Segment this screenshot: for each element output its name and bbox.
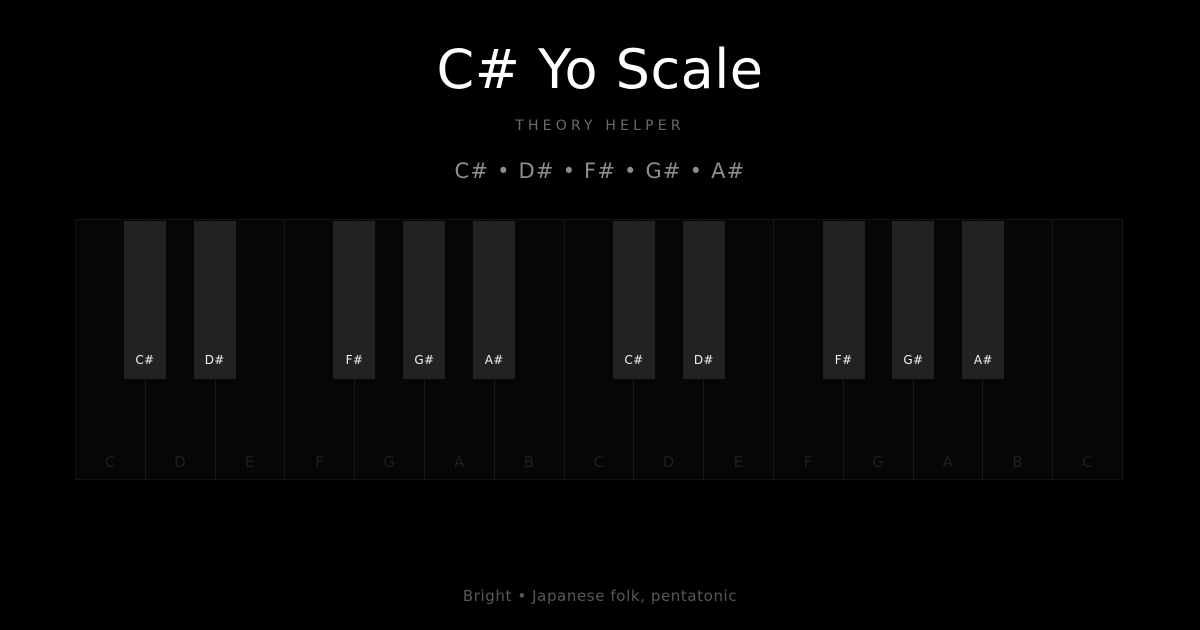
page-title: C# Yo Scale bbox=[0, 38, 1200, 102]
white-key-label: G bbox=[355, 453, 424, 471]
black-key-label: F# bbox=[823, 353, 865, 367]
white-key-label: A bbox=[914, 453, 983, 471]
white-key-label: E bbox=[216, 453, 285, 471]
white-key-label: B bbox=[495, 453, 564, 471]
black-key[interactable]: D# bbox=[683, 221, 725, 379]
black-key[interactable]: A# bbox=[473, 221, 515, 379]
black-key[interactable]: C# bbox=[613, 221, 655, 379]
black-key-label: A# bbox=[962, 353, 1004, 367]
white-key-label: G bbox=[844, 453, 913, 471]
black-key[interactable]: G# bbox=[403, 221, 445, 379]
scale-description: Bright • Japanese folk, pentatonic bbox=[0, 586, 1200, 606]
black-key-label: A# bbox=[473, 353, 515, 367]
black-key-label: G# bbox=[403, 353, 445, 367]
scale-card: C# Yo Scale THEORY HELPER C# • D# • F# •… bbox=[0, 0, 1200, 630]
black-key[interactable]: F# bbox=[333, 221, 375, 379]
black-key[interactable]: A# bbox=[962, 221, 1004, 379]
black-key[interactable]: F# bbox=[823, 221, 865, 379]
white-key-label: E bbox=[704, 453, 773, 471]
black-key-label: C# bbox=[613, 353, 655, 367]
black-keys-row: C#D#F#G#A#C#D#F#G#A# bbox=[75, 221, 1123, 379]
white-key-label: C bbox=[565, 453, 634, 471]
scale-notes: C# • D# • F# • G# • A# bbox=[0, 158, 1200, 184]
white-key-label: F bbox=[774, 453, 843, 471]
app-subtitle: THEORY HELPER bbox=[0, 116, 1200, 136]
black-key[interactable]: D# bbox=[194, 221, 236, 379]
white-key-label: B bbox=[983, 453, 1052, 471]
black-key-label: G# bbox=[892, 353, 934, 367]
piano-keyboard: CDEFGABCDEFGABC C#D#F#G#A#C#D#F#G#A# bbox=[75, 219, 1123, 480]
black-key-label: D# bbox=[194, 353, 236, 367]
black-key-label: D# bbox=[683, 353, 725, 367]
black-key[interactable]: C# bbox=[124, 221, 166, 379]
header: C# Yo Scale THEORY HELPER C# • D# • F# •… bbox=[0, 0, 1200, 184]
black-key-label: C# bbox=[124, 353, 166, 367]
white-key-label: C bbox=[1053, 453, 1122, 471]
white-key-label: D bbox=[634, 453, 703, 471]
black-key-label: F# bbox=[333, 353, 375, 367]
white-key-label: C bbox=[76, 453, 145, 471]
white-key-label: A bbox=[425, 453, 494, 471]
white-key-label: D bbox=[146, 453, 215, 471]
white-key-label: F bbox=[285, 453, 354, 471]
black-key[interactable]: G# bbox=[892, 221, 934, 379]
